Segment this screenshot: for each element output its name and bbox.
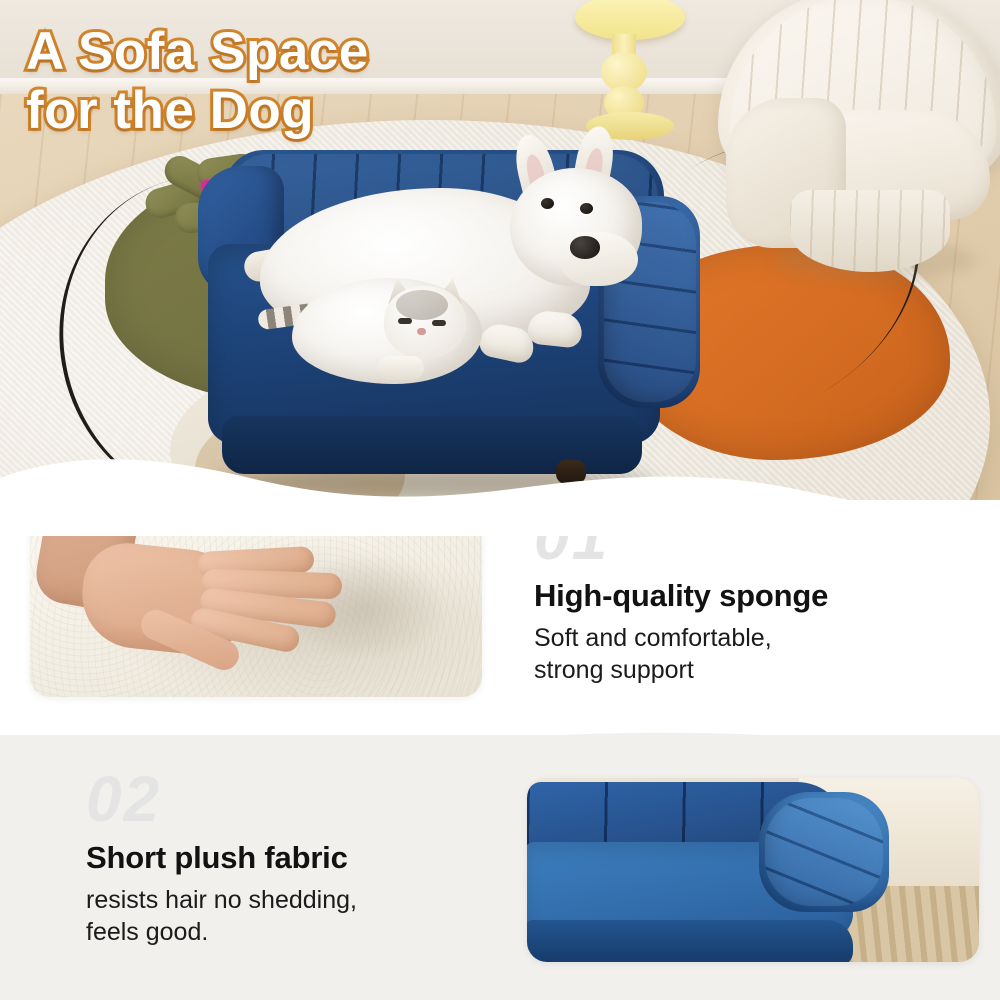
feature-02-desc-line-2: feels good. bbox=[86, 918, 208, 946]
product-feature-page: A Sofa Space for the Dog 01 High-quality… bbox=[0, 0, 1000, 1000]
chair-pedestal-base bbox=[790, 190, 950, 272]
page-title: A Sofa Space for the Dog bbox=[26, 22, 369, 141]
feature-01-text: 01 High-quality sponge Soft and comforta… bbox=[534, 510, 964, 686]
cat-nose bbox=[417, 328, 426, 335]
feature-01-title: High-quality sponge bbox=[534, 578, 964, 614]
headline-line-2: for the Dog bbox=[26, 81, 369, 140]
white-cat bbox=[292, 260, 502, 390]
dog-eye bbox=[541, 198, 554, 209]
feature-02-number: 02 bbox=[86, 772, 516, 826]
fabric-photo bbox=[527, 778, 979, 962]
pet-sofa-product bbox=[200, 148, 700, 488]
dog-eye bbox=[580, 203, 593, 214]
feature-02-title: Short plush fabric bbox=[86, 840, 516, 876]
wave-divider-top bbox=[0, 444, 1000, 536]
cat-face-marking bbox=[396, 290, 448, 320]
hero-section: A Sofa Space for the Dog bbox=[0, 0, 1000, 520]
cat-eye bbox=[398, 318, 412, 324]
dog-nose bbox=[570, 236, 600, 259]
accent-chair bbox=[718, 0, 1000, 280]
cat-eye bbox=[432, 320, 446, 326]
fabric-sofa-skirt bbox=[527, 920, 853, 962]
sponge-photo bbox=[30, 513, 482, 697]
feature-01-description: Soft and comfortable, strong support bbox=[534, 623, 964, 686]
feature-01-desc-line-2: strong support bbox=[534, 656, 694, 684]
feature-01-desc-line-1: Soft and comfortable, bbox=[534, 624, 772, 652]
cat-paw bbox=[378, 356, 424, 380]
feature-02-description: resists hair no shedding, feels good. bbox=[86, 885, 516, 948]
dog-paw bbox=[526, 309, 583, 348]
fabric-arm-tufting bbox=[765, 798, 883, 906]
headline-line-1: A Sofa Space bbox=[26, 22, 369, 81]
feature-02-text: 02 Short plush fabric resists hair no sh… bbox=[86, 772, 516, 948]
feature-02-desc-line-1: resists hair no shedding, bbox=[86, 886, 357, 914]
